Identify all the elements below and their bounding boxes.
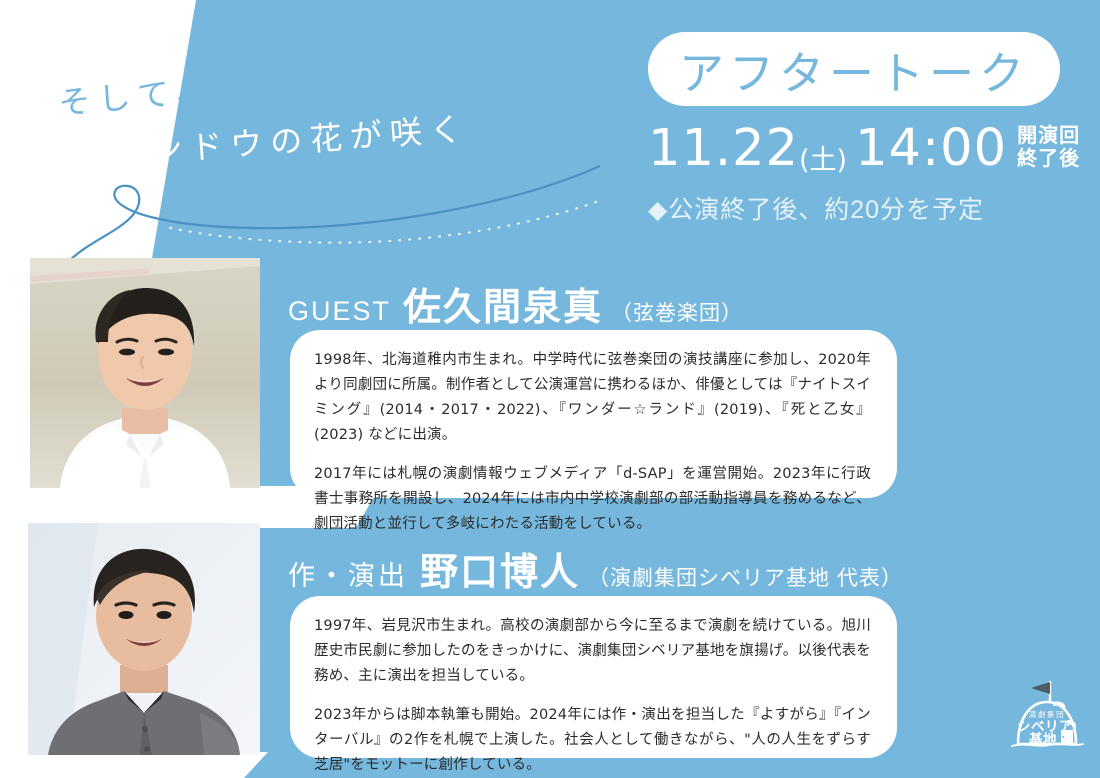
director-affiliation: （演劇集団シベリア基地 代表）: [588, 562, 903, 592]
guest-headline-sakuma: GUEST 佐久間泉真 （弦巻楽団）: [288, 276, 743, 331]
guest-headline-noguchi: 作・演出 野口博人 （演劇集団シベリア基地 代表）: [288, 541, 903, 596]
guest-role-label: GUEST: [288, 296, 391, 327]
siberia-base-logo-icon: 演劇集団 シベリア 基地: [1007, 676, 1087, 760]
guest-bio-paragraph: 2017年には札幌の演劇情報ウェブメディア「d-SAP」を運営開始。2023年に…: [314, 462, 871, 537]
event-timing-note-line1: 開演回: [1017, 125, 1080, 147]
event-timing-note-line2: 終了後: [1017, 148, 1080, 170]
event-date-row: 11.22 (土) 14:00 開演回 終了後: [648, 123, 1068, 174]
company-logo: 演劇集団 シベリア 基地: [1007, 676, 1087, 760]
logo-top-text: 演劇集団: [1029, 709, 1065, 719]
background-white-strip-left-upper: [0, 257, 30, 489]
aftertalk-badge-label: アフタートーク: [679, 37, 1029, 102]
director-bio-paragraph: 1997年、岩見沢市生まれ。高校の演劇部から今に至るまで演劇を続けている。旭川歴…: [314, 614, 871, 689]
guest-bio-card-sakuma: 1998年、北海道稚内市生まれ。中学時代に弦巻楽団の演技講座に参加し、2020年…: [290, 330, 897, 498]
guest-photo-sakuma: [30, 258, 260, 488]
director-role-label: 作・演出: [288, 554, 408, 593]
event-day-of-week: (土): [799, 147, 847, 174]
director-name: 野口博人: [420, 541, 580, 596]
guest-bio-paragraph: 1998年、北海道稚内市生まれ。中学時代に弦巻楽団の演技講座に参加し、2020年…: [314, 348, 871, 448]
guest-name: 佐久間泉真: [403, 276, 603, 331]
guest-bio-card-noguchi: 1997年、岩見沢市生まれ。高校の演劇部から今に至るまで演劇を続けている。旭川歴…: [290, 596, 897, 758]
guest-photo-noguchi: [28, 523, 260, 755]
event-duration-note: ◆公演終了後、約20分を予定: [648, 190, 984, 226]
logo-line-2: 基地: [1029, 731, 1057, 748]
guest-affiliation: （弦巻楽団）: [611, 297, 743, 327]
event-date: 11.22: [648, 123, 799, 174]
background-white-strip-left-lower: [0, 523, 28, 755]
event-time: 14:00: [855, 123, 1007, 174]
aftertalk-badge: アフタートーク: [648, 32, 1060, 106]
event-timing-note: 開演回 終了後: [1017, 125, 1080, 174]
director-bio-paragraph: 2023年からは脚本執筆も開始。2024年には作・演出を担当した『よすがら』『イ…: [314, 703, 871, 778]
poster-canvas: そして、また リンドウの花が咲く アフタートーク 11.22 (土) 14:00…: [0, 0, 1100, 778]
